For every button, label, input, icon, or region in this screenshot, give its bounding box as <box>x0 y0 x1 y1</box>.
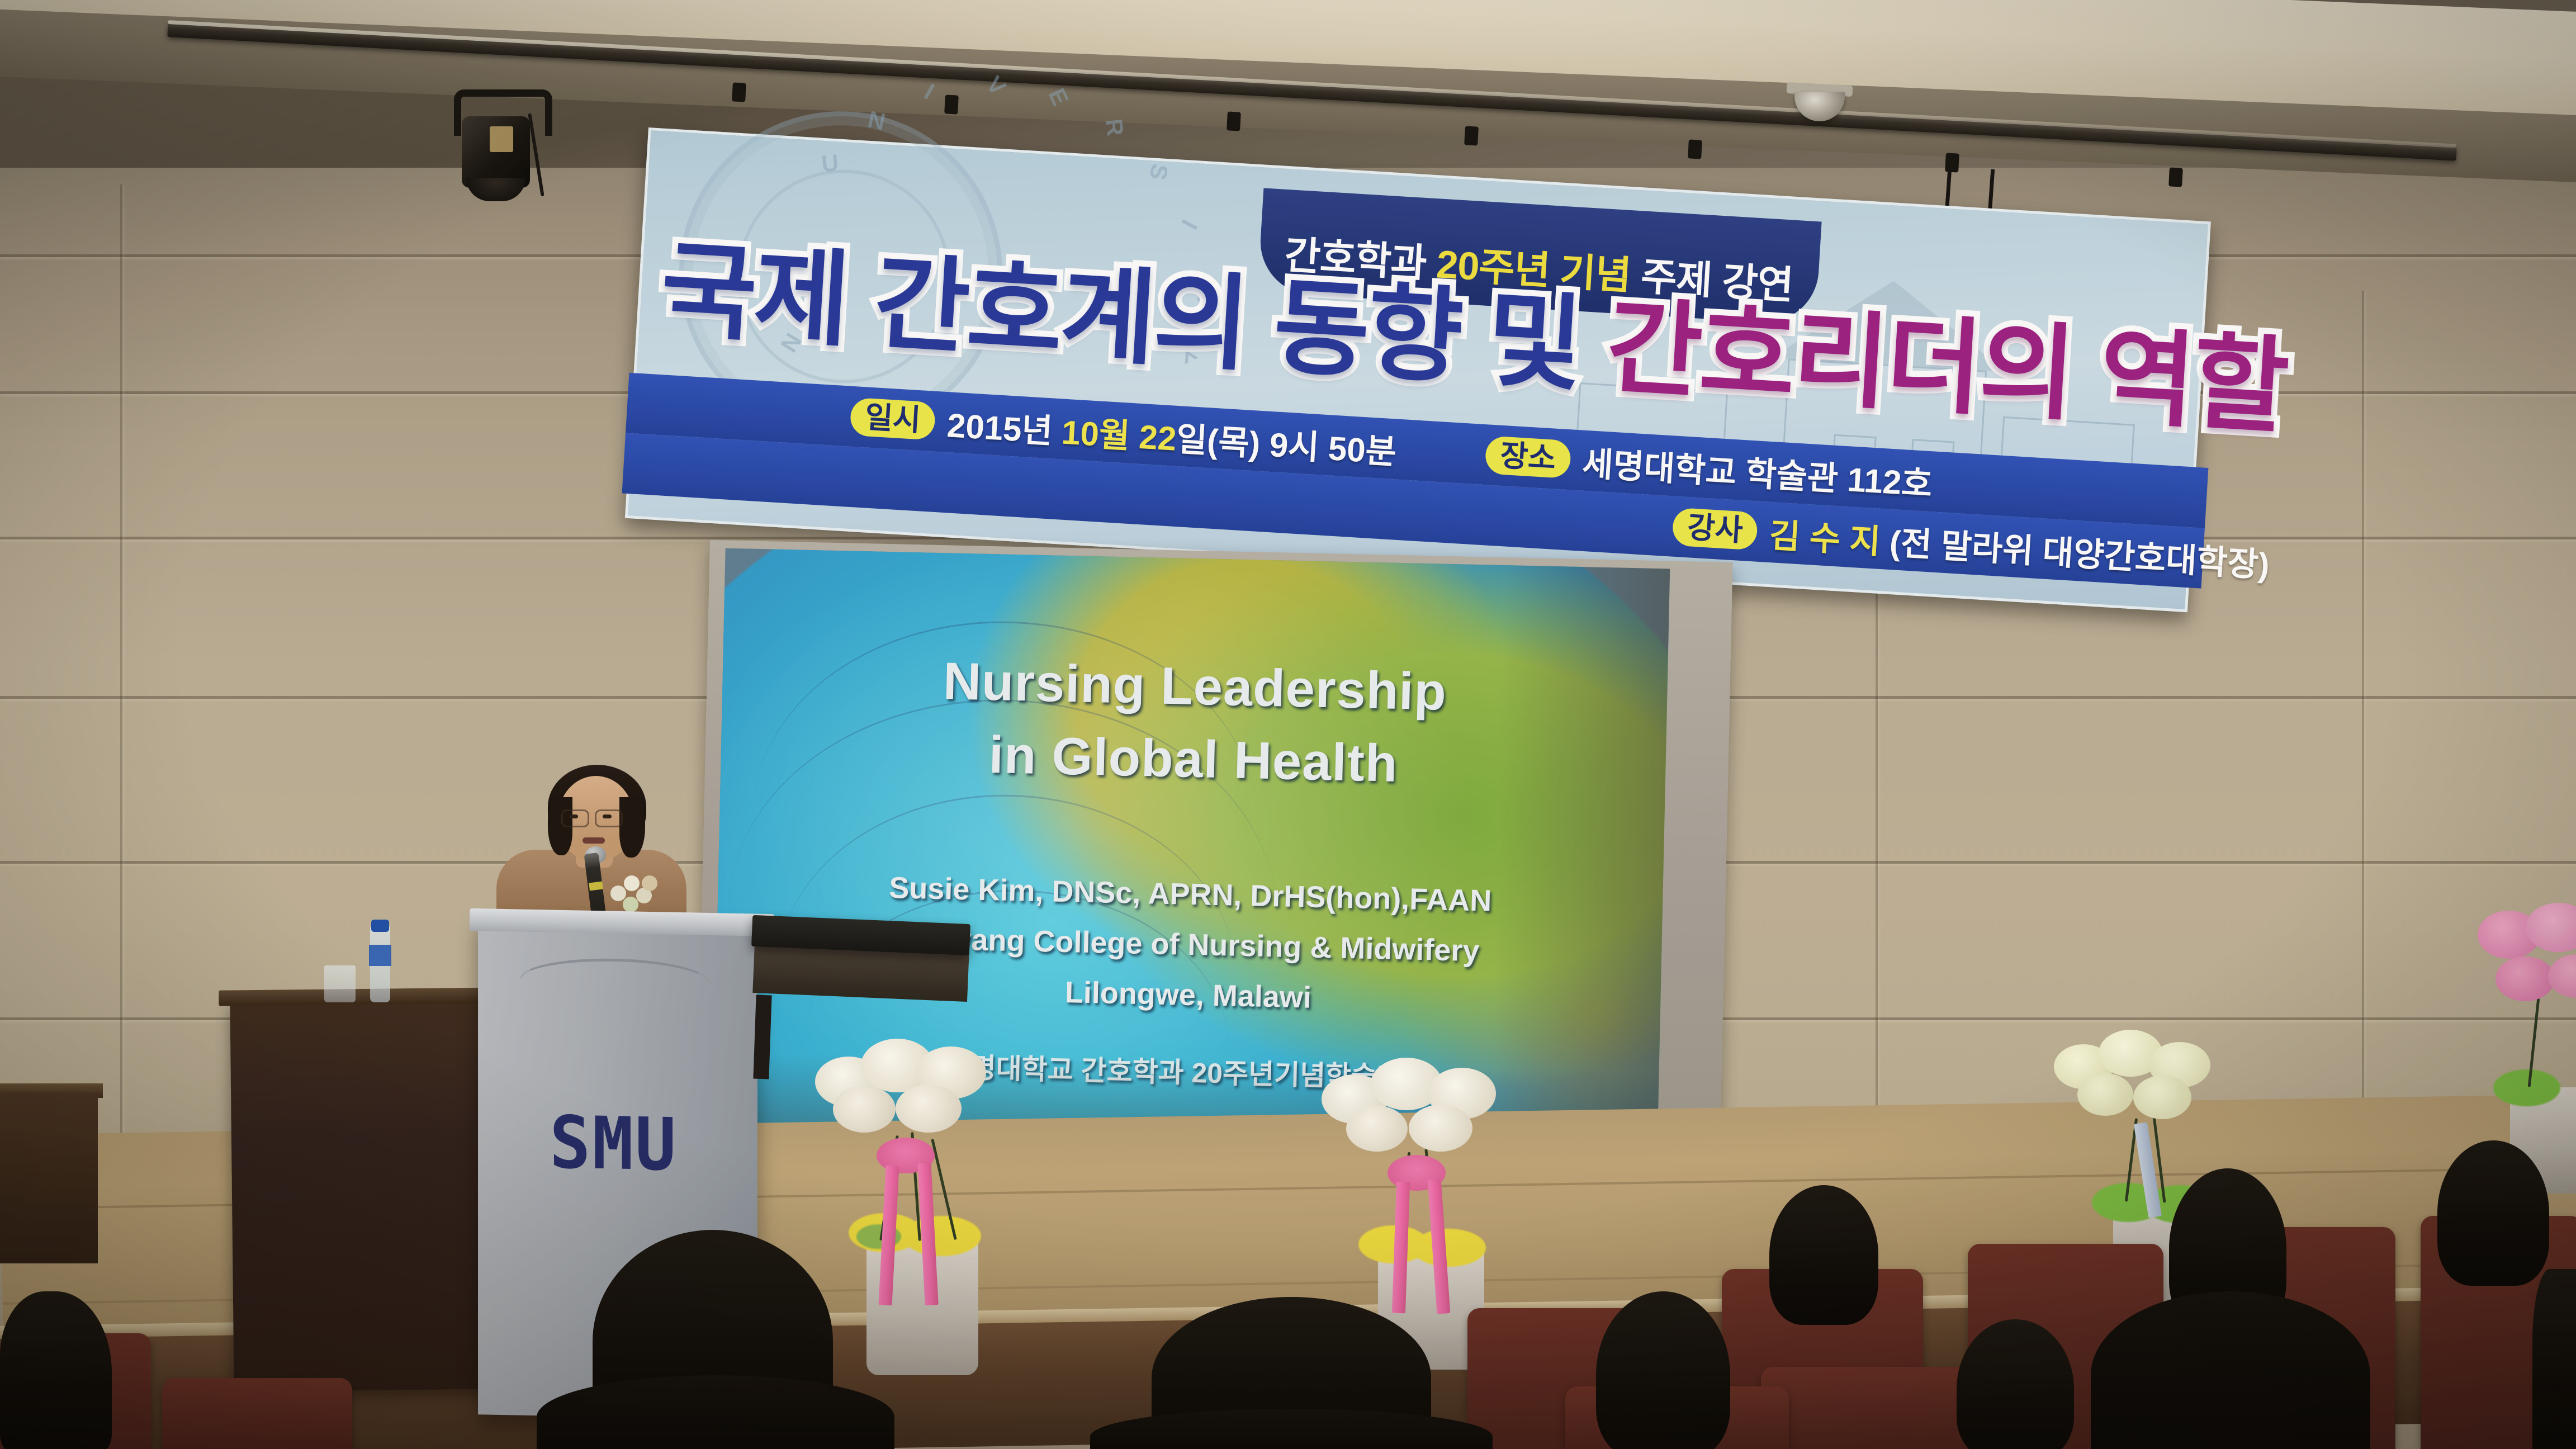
banner-tag-datetime: 일시 <box>849 397 936 441</box>
speaker-glasses-right <box>595 809 623 827</box>
water-bottle-cap <box>371 920 389 932</box>
banner-speaker-name: 김 수 지 <box>1768 517 1891 561</box>
audience-head <box>2532 1269 2576 1449</box>
banner-datetime-post: 일(목) 9시 50분 <box>1175 420 1398 471</box>
audience-head <box>1596 1291 1730 1449</box>
audience-head <box>1957 1319 2074 1449</box>
speaker-person <box>492 744 693 928</box>
side-table <box>230 998 496 1392</box>
auditorium-seat <box>162 1378 352 1449</box>
podium-logo: SMU <box>550 1100 678 1187</box>
banner-tag-venue: 장소 <box>1485 435 1571 479</box>
banner-tag-speaker: 강사 <box>1671 507 1758 551</box>
conference-hall-photo: SEMYUNG UNIVERSITY 간호학과 20주년 기념 주제 강연 국제… <box>0 0 2576 1449</box>
audience-head <box>0 1291 112 1449</box>
podium-groove <box>520 957 709 982</box>
banner-datetime-pre: 2015년 <box>946 406 1063 451</box>
audience-head <box>2437 1140 2549 1286</box>
stage-left-cabinet <box>0 1093 98 1263</box>
spotlight-icon <box>447 89 542 207</box>
banner-datetime-highlight: 10월 22 <box>1060 413 1177 457</box>
drinking-glass <box>324 965 356 1002</box>
audience-head <box>1769 1185 1878 1325</box>
audience-shoulders <box>2091 1291 2370 1449</box>
speaker-glasses-left <box>561 809 589 827</box>
water-bottle-label <box>369 945 391 966</box>
